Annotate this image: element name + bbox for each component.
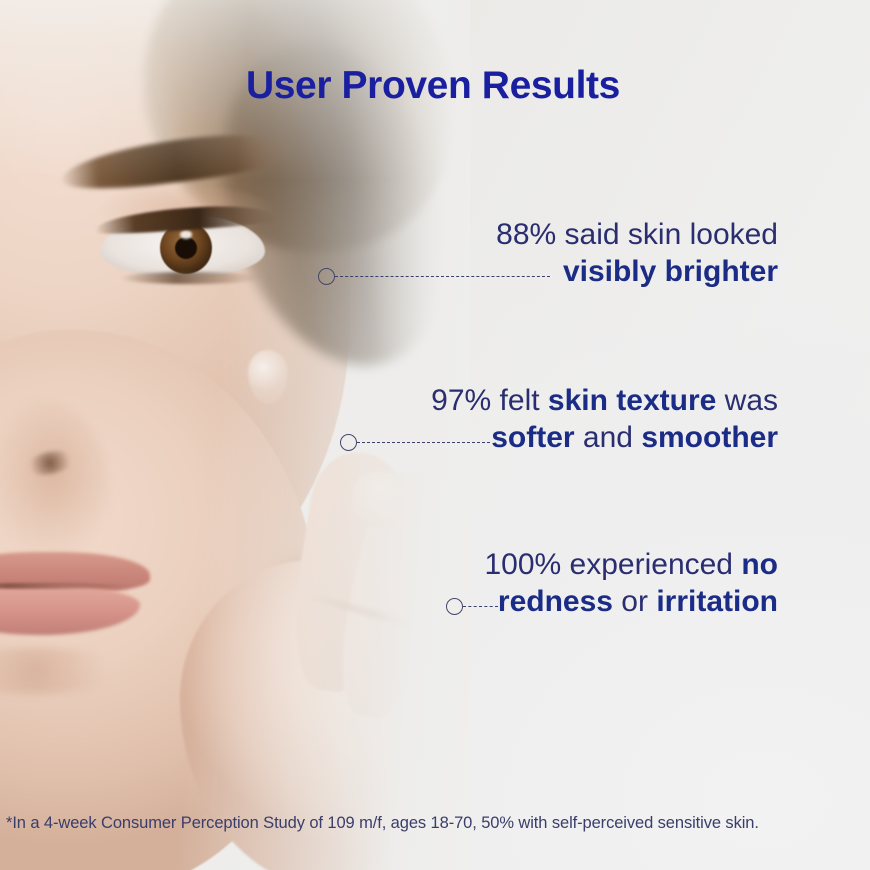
dashed-line: [463, 606, 498, 607]
claim-row-1: 88% said skin looked visibly brighter: [318, 216, 778, 298]
circle-marker-icon: [446, 598, 463, 615]
claim-2-line-1c: was: [716, 384, 778, 417]
claim-3-line-2c: irritation: [656, 585, 778, 618]
claim-2-line-2a: softer: [491, 421, 574, 454]
page-title: User Proven Results: [246, 64, 620, 108]
claim-2-line-1b: skin texture: [548, 384, 716, 417]
claim-row-3: 100% experienced no redness or irritatio…: [446, 546, 778, 628]
circle-marker-icon: [340, 434, 357, 451]
claim-2-leader: [340, 434, 490, 451]
study-footnote: *In a 4-week Consumer Perception Study o…: [6, 814, 759, 833]
circle-marker-icon: [318, 268, 335, 285]
claim-3-line-2a: redness: [498, 585, 613, 618]
dashed-line: [335, 276, 550, 277]
claim-3-text: 100% experienced no redness or irritatio…: [484, 546, 778, 620]
claim-3-line-1a: 100% experienced: [484, 548, 741, 581]
claim-1-line-1: 88% said skin looked: [496, 218, 778, 251]
claim-2-line-1a: 97% felt: [431, 384, 548, 417]
dashed-line: [357, 442, 490, 443]
claim-2-line-2c: smoother: [641, 421, 778, 454]
claim-1-line-2: visibly brighter: [563, 255, 778, 288]
claim-3-line-2b: or: [613, 585, 656, 618]
claim-3-line-1b: no: [741, 548, 778, 581]
claim-1-leader: [318, 268, 550, 285]
results-infographic: User Proven Results 88% said skin looked…: [0, 0, 870, 870]
claim-3-leader: [446, 598, 498, 615]
claim-row-2: 97% felt skin texture was softer and smo…: [340, 382, 778, 464]
claim-2-line-2b: and: [575, 421, 642, 454]
